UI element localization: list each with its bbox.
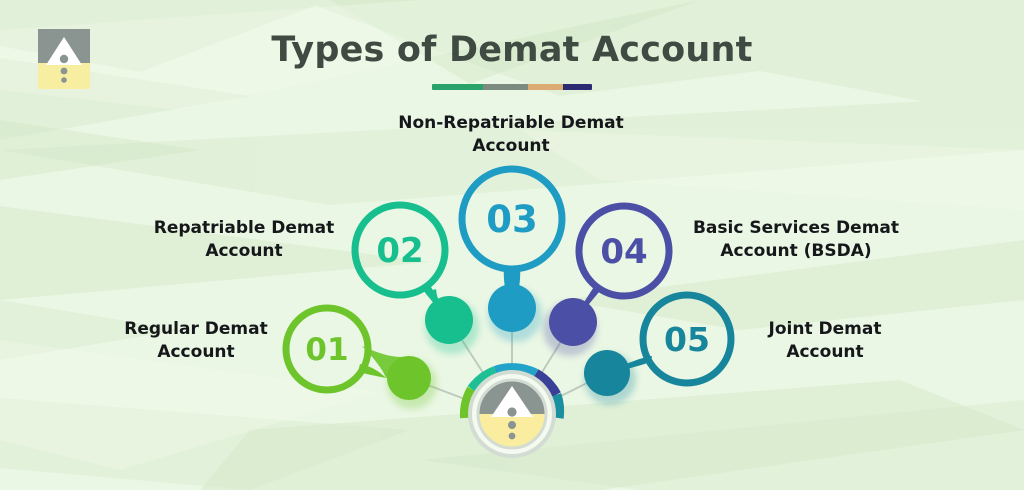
center-hub bbox=[465, 369, 558, 456]
infographic-canvas: Types of Demat Account 01 bbox=[0, 0, 1024, 490]
node-02-number: 02 bbox=[376, 231, 423, 271]
node-02-label: Repatriable Demat Account bbox=[133, 217, 355, 263]
node-03-number: 03 bbox=[486, 198, 538, 241]
node-01-label: Regular Demat Account bbox=[96, 318, 296, 364]
node-04-number: 04 bbox=[600, 232, 647, 272]
hub-arc-seg-5 bbox=[556, 395, 559, 418]
node-03-label: Non-Repatriable Demat Account bbox=[372, 112, 650, 158]
node-05[interactable]: 05 bbox=[584, 295, 731, 405]
node-01[interactable]: 01 bbox=[286, 308, 437, 409]
node-05-number: 05 bbox=[664, 320, 710, 359]
node-04-label: Basic Services Demat Account (BSDA) bbox=[672, 217, 920, 263]
node-05-label: Joint Demat Account bbox=[736, 318, 914, 364]
node-01-number: 01 bbox=[305, 332, 348, 368]
